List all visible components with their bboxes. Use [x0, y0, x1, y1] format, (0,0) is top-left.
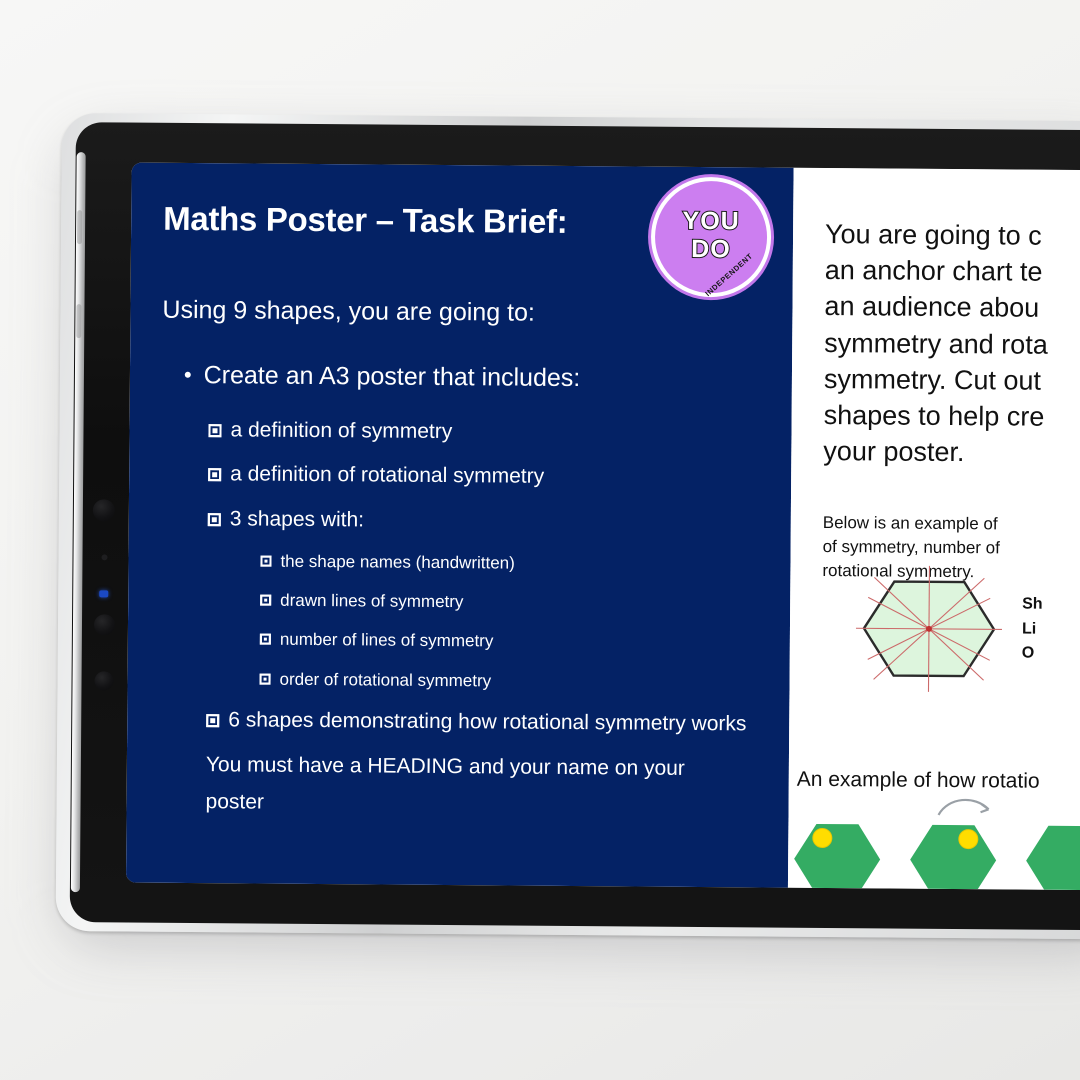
hexagon-icon — [908, 817, 999, 891]
closing-instruction: You must have a HEADING and your name on… — [205, 747, 736, 825]
checkbox-icon — [260, 555, 271, 566]
you-do-badge: YOU DO INDEPENDENT — [655, 181, 768, 294]
bullet-dot-icon: • — [184, 359, 192, 392]
intro-text: Using 9 shapes, you are going to: — [162, 295, 762, 331]
sub-checklist-item-label: drawn lines of symmetry — [280, 590, 463, 613]
screenshot-canvas: Maths Poster – Task Brief: Using 9 shape… — [0, 0, 1080, 1080]
sub-checklist-item-label: number of lines of symmetry — [280, 629, 494, 652]
hexagon-icon — [1024, 818, 1080, 891]
anchor-chart-heading: You are going to can anchor chart tean a… — [823, 216, 1080, 472]
sub-checklist-item: the shape names (handwritten) — [260, 550, 760, 575]
device-side-rim — [71, 152, 86, 892]
sub-checklist-item: number of lines of symmetry — [260, 629, 760, 654]
rotation-sequence: Starting point Rotated once — [792, 816, 1080, 891]
rotation-step: Rotated once — [908, 817, 999, 891]
sub-checklist-item: order of rotational symmetry — [259, 668, 759, 693]
spec-order-label: O — [1022, 642, 1043, 667]
badge-line-1: YOU — [682, 209, 739, 234]
tablet-bezel: Maths Poster – Task Brief: Using 9 shape… — [70, 122, 1080, 930]
hexagon-symmetry-diagram — [853, 563, 1004, 694]
checkbox-icon — [260, 673, 271, 684]
ambient-sensor-icon — [101, 554, 107, 560]
checklist-item: a definition of rotational symmetry — [208, 461, 761, 492]
checklist-item-label: 3 shapes with: — [230, 506, 364, 533]
rotation-step: Starting point — [792, 816, 883, 891]
main-bullet-label: Create an A3 poster that includes: — [204, 359, 581, 394]
checkbox-icon — [208, 424, 221, 437]
proximity-sensor-icon — [94, 614, 115, 635]
hexagon-icon — [792, 816, 883, 891]
spec-lines-label: Li — [1022, 617, 1043, 642]
checklist-item-last: 6 shapes demonstrating how rotational sy… — [206, 707, 759, 738]
rotate-arrow-icon — [934, 795, 996, 821]
checklist-item-label: a definition of rotational symmetry — [230, 462, 544, 491]
volume-down-button[interactable] — [76, 304, 81, 338]
tablet-screen: Maths Poster – Task Brief: Using 9 shape… — [126, 163, 1080, 891]
front-camera-icon — [93, 499, 115, 521]
symmetry-hexagon-example: Sh Li O — [853, 563, 1042, 694]
badge-line-2: DO — [691, 234, 731, 266]
checkbox-icon — [206, 714, 219, 727]
task-brief-slide: Maths Poster – Task Brief: Using 9 shape… — [126, 163, 794, 888]
checklist-item: 3 shapes with: — [208, 506, 761, 537]
main-bullet: • Create an A3 poster that includes: — [184, 359, 762, 396]
checkbox-icon — [260, 634, 271, 645]
rotation-example-heading: An example of how rotatio — [797, 768, 1040, 794]
tablet-device: Maths Poster – Task Brief: Using 9 shape… — [56, 113, 1080, 939]
hexagon-spec-labels: Sh Li O — [1022, 592, 1043, 667]
sub-checklist-item-label: order of rotational symmetry — [279, 668, 491, 691]
spec-shape-label: Sh — [1022, 592, 1043, 617]
sub-checklist-item: drawn lines of symmetry — [260, 590, 760, 615]
checklist-item-label: a definition of symmetry — [230, 417, 452, 445]
rotation-step: Rotated twice — [1024, 818, 1080, 891]
checklist-item: a definition of symmetry — [208, 417, 761, 448]
sub-checklist-item-label: the shape names (handwritten) — [280, 551, 515, 574]
status-led-icon — [99, 590, 108, 597]
volume-up-button[interactable] — [77, 210, 82, 244]
checkbox-icon — [208, 513, 221, 526]
checklist-item-last-label: 6 shapes demonstrating how rotational sy… — [228, 707, 746, 737]
checkbox-icon — [208, 468, 221, 481]
secondary-sensor-icon — [94, 671, 113, 690]
anchor-chart-slide: You are going to can anchor chart tean a… — [788, 168, 1080, 891]
checkbox-icon — [260, 595, 271, 606]
